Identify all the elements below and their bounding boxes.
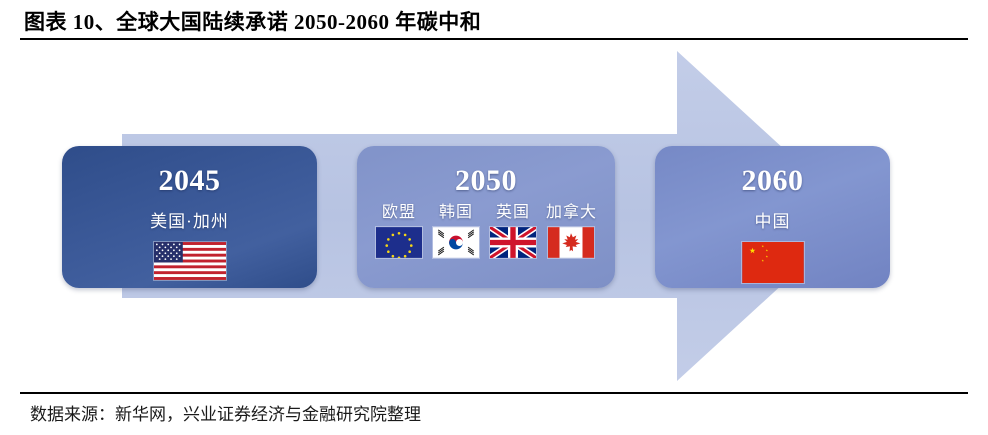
cn-flag-icon [741,241,805,284]
stage-label: 美国·加州 [62,207,317,232]
entity-label: 英国 [496,204,530,222]
flag-row [62,237,317,281]
page-title: 图表 10、全球大国陆续承诺 2050-2060 年碳中和 [24,6,481,36]
stage-year: 2060 [655,166,890,196]
flag-row [655,237,890,284]
stage-year: 2045 [62,166,317,196]
entity-gb: 英国 [489,204,537,259]
ca-flag-icon [547,226,595,259]
kr-flag-icon [432,226,480,259]
entity-ca: 加拿大 [546,204,597,259]
entity-kr: 韩国 [432,204,480,259]
entity-cn [741,237,805,284]
eu-flag-icon [375,226,423,259]
gb-flag-icon [489,226,537,259]
title-bar: 图表 10、全球大国陆续承诺 2050-2060 年碳中和 [0,0,988,40]
us-flag-icon [153,241,227,281]
title-divider [20,38,968,40]
entity-us [153,237,227,281]
stage-label: 中国 [655,207,890,232]
flag-row: 欧盟 韩国 [357,204,615,259]
footer-divider [20,392,968,394]
stage-year: 2050 [357,166,615,196]
entity-label: 加拿大 [546,204,597,222]
source-note: 数据来源：新华网，兴业证券经济与金融研究院整理 [30,400,421,425]
entity-label: 韩国 [439,204,473,222]
stage-box-2050[interactable]: 2050 欧盟 [357,146,615,288]
entity-eu: 欧盟 [375,204,423,259]
stage-box-2060[interactable]: 2060 中国 [655,146,890,288]
entity-label: 欧盟 [382,204,416,222]
stage-box-2045[interactable]: 2045 美国·加州 [62,146,317,288]
